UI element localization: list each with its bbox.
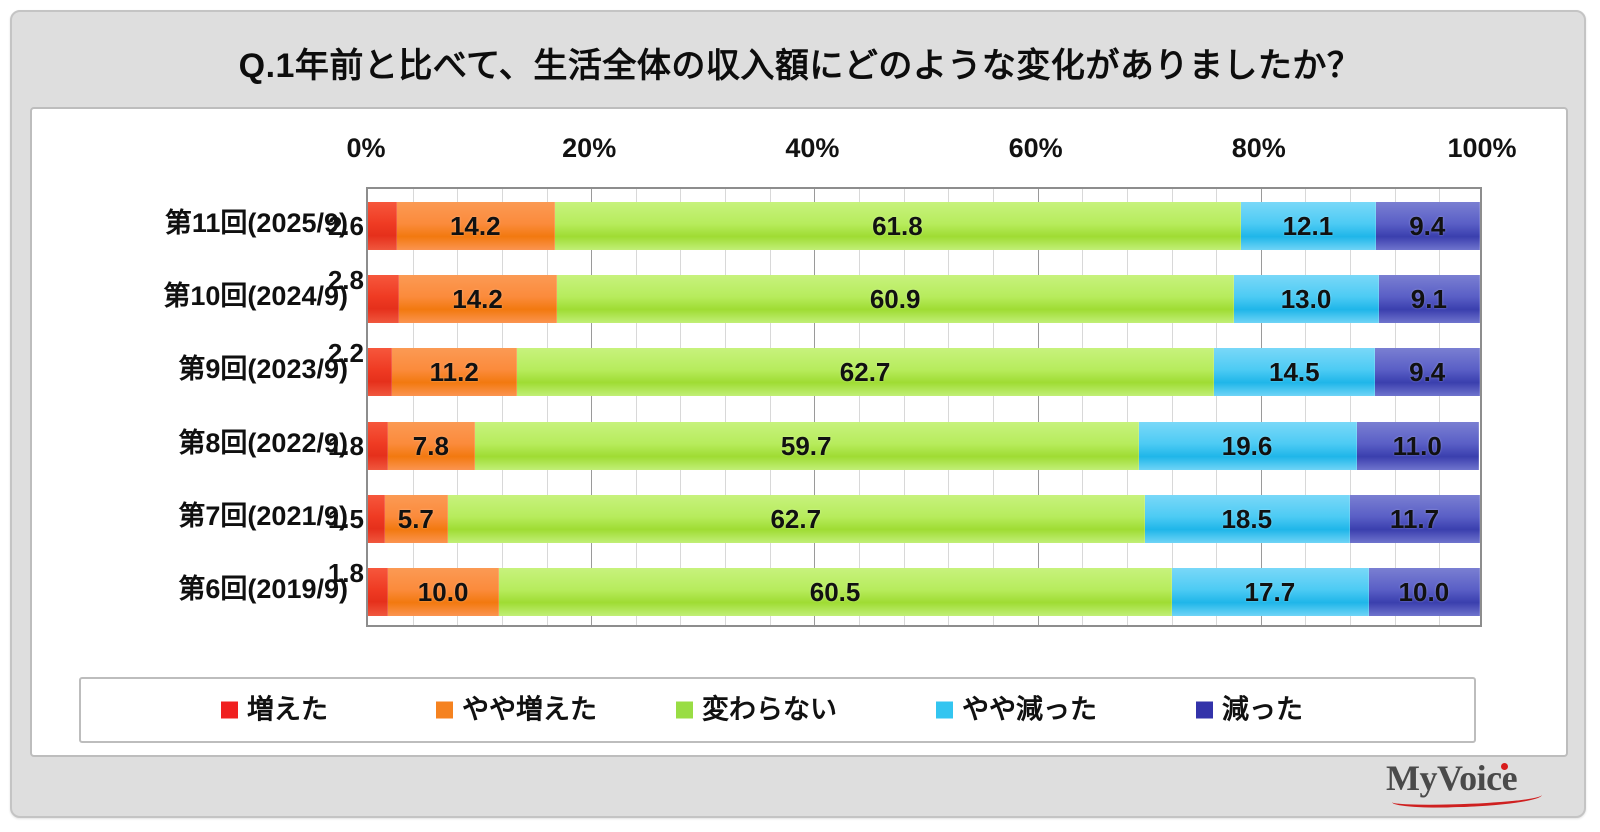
bar-segment[interactable]: 14.2	[397, 202, 555, 250]
bar-value-label: 9.1	[1411, 286, 1447, 312]
bar-segment[interactable]: 9.4	[1375, 348, 1480, 396]
x-tick-label: 0%	[346, 133, 385, 164]
bar-row: 1.810.060.517.710.0	[368, 568, 1480, 616]
bar-segment[interactable]: 17.7	[1172, 568, 1369, 616]
bar-value-label: 14.5	[1269, 359, 1320, 385]
bar-value-label: 5.7	[398, 506, 434, 532]
legend-swatch	[1196, 702, 1213, 719]
plot-area: 2.614.261.812.19.42.814.260.913.09.12.21…	[366, 187, 1482, 627]
bar-value-label: 9.4	[1409, 213, 1445, 239]
bar-segment[interactable]: 62.7	[517, 348, 1214, 396]
bar-value-label: 19.6	[1222, 433, 1273, 459]
bar-value-label: 13.0	[1281, 286, 1332, 312]
chart-panel: 0%20%40%60%80%100% 第11回(2025/9)第10回(2024…	[30, 107, 1568, 757]
bar-value-label: 18.5	[1221, 506, 1272, 532]
bar-row: 2.814.260.913.09.1	[368, 275, 1480, 323]
x-tick-label: 100%	[1447, 133, 1516, 164]
category-label: 第7回(2021/9)	[32, 503, 348, 530]
category-label: 第8回(2022/9)	[32, 430, 348, 457]
bar-segment[interactable]: 60.9	[557, 275, 1234, 323]
bar-rows: 2.614.261.812.19.42.814.260.913.09.12.21…	[368, 189, 1480, 625]
legend-item[interactable]: 減った	[1196, 697, 1303, 724]
bar-value-label: 10.0	[1399, 579, 1450, 605]
bar-value-label: 1.8	[328, 433, 364, 459]
bar-segment[interactable]: 10.0	[1369, 568, 1480, 616]
bar-segment[interactable]: 1.8	[368, 568, 388, 616]
bar-segment[interactable]: 7.8	[388, 422, 475, 470]
legend-item[interactable]: やや増えた	[436, 697, 597, 724]
bar-value-label: 61.8	[872, 213, 923, 239]
bar-value-label: 17.7	[1245, 579, 1296, 605]
chart-title: Q.1年前と比べて、生活全体の収入額にどのような変化がありましたか？	[12, 38, 1588, 87]
bar-segment[interactable]: 62.7	[448, 495, 1145, 543]
x-tick-label: 80%	[1232, 133, 1286, 164]
legend-item[interactable]: 変わらない	[676, 697, 837, 724]
bar-row: 2.211.262.714.59.4	[368, 348, 1480, 396]
bar-value-label: 14.2	[452, 286, 503, 312]
legend-item[interactable]: 増えた	[221, 697, 328, 724]
bar-value-label: 62.7	[840, 359, 891, 385]
legend-label: やや増えた	[462, 697, 597, 724]
bar-segment[interactable]: 13.0	[1234, 275, 1379, 323]
bar-value-label: 11.2	[430, 359, 479, 385]
legend-label: 変わらない	[702, 697, 837, 724]
legend-swatch	[221, 702, 238, 719]
bar-segment[interactable]: 1.5	[368, 495, 385, 543]
category-label: 第10回(2024/9)	[32, 283, 348, 310]
bar-row: 2.614.261.812.19.4	[368, 202, 1480, 250]
bar-segment[interactable]: 12.1	[1241, 202, 1375, 250]
bar-segment[interactable]: 11.7	[1350, 495, 1480, 543]
x-axis-tick-labels: 0%20%40%60%80%100%	[32, 133, 1566, 167]
chart-frame: Q.1年前と比べて、生活全体の収入額にどのような変化がありましたか？ 0%20%…	[10, 10, 1586, 818]
bar-row: 1.55.762.718.511.7	[368, 495, 1480, 543]
bar-segment[interactable]: 2.2	[368, 348, 392, 396]
bar-segment[interactable]: 2.6	[368, 202, 397, 250]
bar-value-label: 12.1	[1283, 213, 1334, 239]
bar-segment[interactable]: 2.8	[368, 275, 399, 323]
bar-segment[interactable]: 60.5	[499, 568, 1172, 616]
x-tick-label: 40%	[785, 133, 839, 164]
bar-segment[interactable]: 59.7	[475, 422, 1139, 470]
category-label: 第11回(2025/9)	[32, 210, 348, 237]
bar-segment[interactable]: 19.6	[1139, 422, 1357, 470]
x-tick-label: 20%	[562, 133, 616, 164]
legend-label: 減った	[1222, 697, 1303, 724]
bar-value-label: 59.7	[781, 433, 832, 459]
bar-value-label: 11.0	[1393, 433, 1442, 459]
bar-segment[interactable]: 14.5	[1214, 348, 1375, 396]
legend-swatch	[436, 702, 453, 719]
bar-value-label: 14.2	[450, 213, 501, 239]
legend-label: 増えた	[247, 697, 328, 724]
bar-segment[interactable]: 11.0	[1357, 422, 1479, 470]
bar-segment[interactable]: 18.5	[1145, 495, 1351, 543]
bar-value-label: 10.0	[418, 579, 469, 605]
category-label: 第6回(2019/9)	[32, 576, 348, 603]
bar-value-label: 2.8	[328, 267, 364, 293]
x-tick-label: 60%	[1009, 133, 1063, 164]
bar-segment[interactable]: 10.0	[388, 568, 499, 616]
bar-segment[interactable]: 11.2	[392, 348, 517, 396]
bar-row: 1.87.859.719.611.0	[368, 422, 1480, 470]
legend-swatch	[936, 702, 953, 719]
bar-segment[interactable]: 9.1	[1379, 275, 1480, 323]
bar-segment[interactable]: 14.2	[399, 275, 557, 323]
myvoice-logo: MyVoice	[1386, 760, 1556, 804]
bar-value-label: 60.5	[810, 579, 861, 605]
bar-value-label: 2.2	[328, 340, 364, 366]
bar-segment[interactable]: 61.8	[555, 202, 1242, 250]
bar-segment[interactable]: 1.8	[368, 422, 388, 470]
bar-value-label: 7.8	[413, 433, 449, 459]
legend-items: 増えたやや増えた変わらないやや減った減った	[81, 679, 1474, 741]
legend-label: やや減った	[962, 697, 1097, 724]
bar-value-label: 1.8	[328, 560, 364, 586]
legend-swatch	[676, 702, 693, 719]
bar-value-label: 1.5	[328, 506, 364, 532]
category-axis-labels: 第11回(2025/9)第10回(2024/9)第9回(2023/9)第8回(2…	[32, 187, 348, 627]
bar-value-label: 62.7	[770, 506, 821, 532]
bar-segment[interactable]: 5.7	[385, 495, 448, 543]
bar-value-label: 11.7	[1390, 506, 1439, 532]
chart-legend: 増えたやや増えた変わらないやや減った減った	[79, 677, 1476, 743]
bar-value-label: 2.6	[328, 213, 364, 239]
logo-swoosh-accent	[1392, 788, 1542, 809]
bar-value-label: 9.4	[1409, 359, 1445, 385]
bar-value-label: 60.9	[870, 286, 921, 312]
legend-item[interactable]: やや減った	[936, 697, 1097, 724]
logo-dot-accent	[1501, 763, 1508, 770]
category-label: 第9回(2023/9)	[32, 356, 348, 383]
bar-segment[interactable]: 9.4	[1376, 202, 1480, 250]
